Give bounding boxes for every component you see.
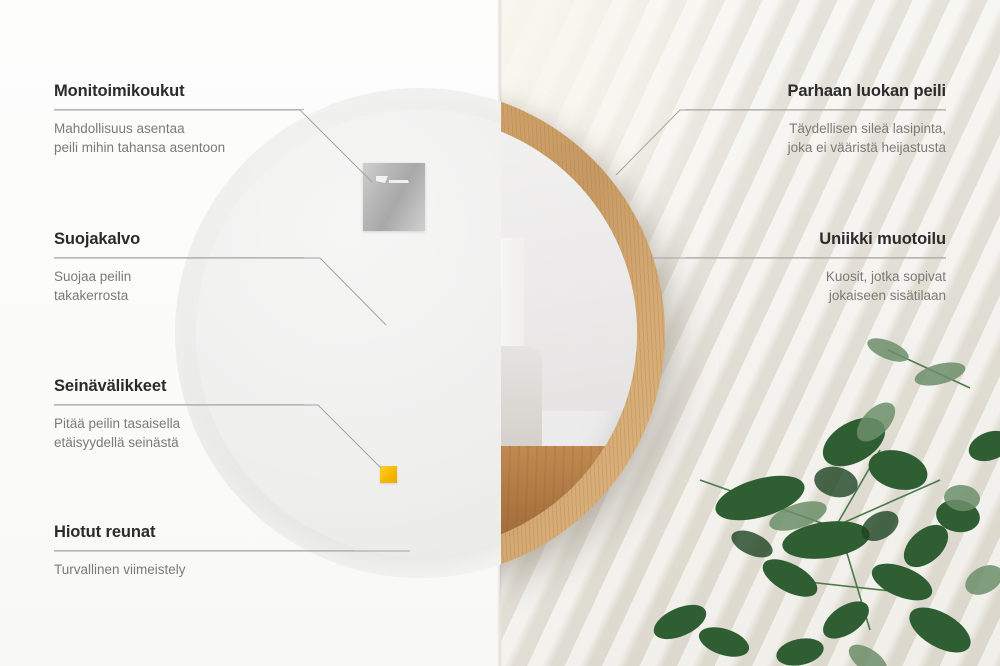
callout-description: Täydellisen sileä lasipinta, joka ei vää… <box>686 119 946 157</box>
mirror-glass-surface <box>500 116 637 550</box>
callout-uniikki-muotoilu: Uniikki muotoilu Kuosit, jotka sopivat j… <box>686 230 946 305</box>
callout-seinavalikkeet: Seinävälikkeet Pitää peilin tasaisella e… <box>54 377 304 452</box>
callout-hiotut-reunat: Hiotut reunat Turvallinen viimeistely <box>54 523 354 579</box>
callout-title: Parhaan luokan peili <box>686 82 946 100</box>
callout-monitoimikoukut: Monitoimikoukut Mahdollisuus asentaa pei… <box>54 82 304 157</box>
reflected-sofa <box>500 346 542 459</box>
callout-rule <box>686 109 946 110</box>
callout-description: Kuosit, jotka sopivat jokaiseen sisätila… <box>686 267 946 305</box>
infographic-canvas: Monitoimikoukut Mahdollisuus asentaa pei… <box>0 0 1000 666</box>
callout-parhaan-luokan-peili: Parhaan luokan peili Täydellisen sileä l… <box>686 82 946 157</box>
reflected-wood-floor <box>500 446 637 550</box>
callout-rule <box>54 404 304 405</box>
callout-rule <box>54 109 304 110</box>
callout-title: Seinävälikkeet <box>54 377 304 395</box>
mounting-bracket-plate <box>363 163 425 231</box>
callout-title: Monitoimikoukut <box>54 82 304 100</box>
callout-description: Pitää peilin tasaisella etäisyydellä sei… <box>54 414 304 452</box>
callout-description: Suojaa peilin takakerrosta <box>54 267 304 305</box>
callout-title: Hiotut reunat <box>54 523 354 541</box>
callout-title: Uniikki muotoilu <box>686 230 946 248</box>
callout-description: Mahdollisuus asentaa peili mihin tahansa… <box>54 119 304 157</box>
callout-suojakalvo: Suojakalvo Suojaa peilin takakerrosta <box>54 230 304 305</box>
wall-spacer-block <box>380 466 397 483</box>
callout-rule <box>54 257 304 258</box>
callout-rule <box>54 550 354 551</box>
bracket-hook-slot <box>375 175 411 186</box>
callout-rule <box>686 257 946 258</box>
callout-title: Suojakalvo <box>54 230 304 248</box>
callout-description: Turvallinen viimeistely <box>54 560 354 579</box>
